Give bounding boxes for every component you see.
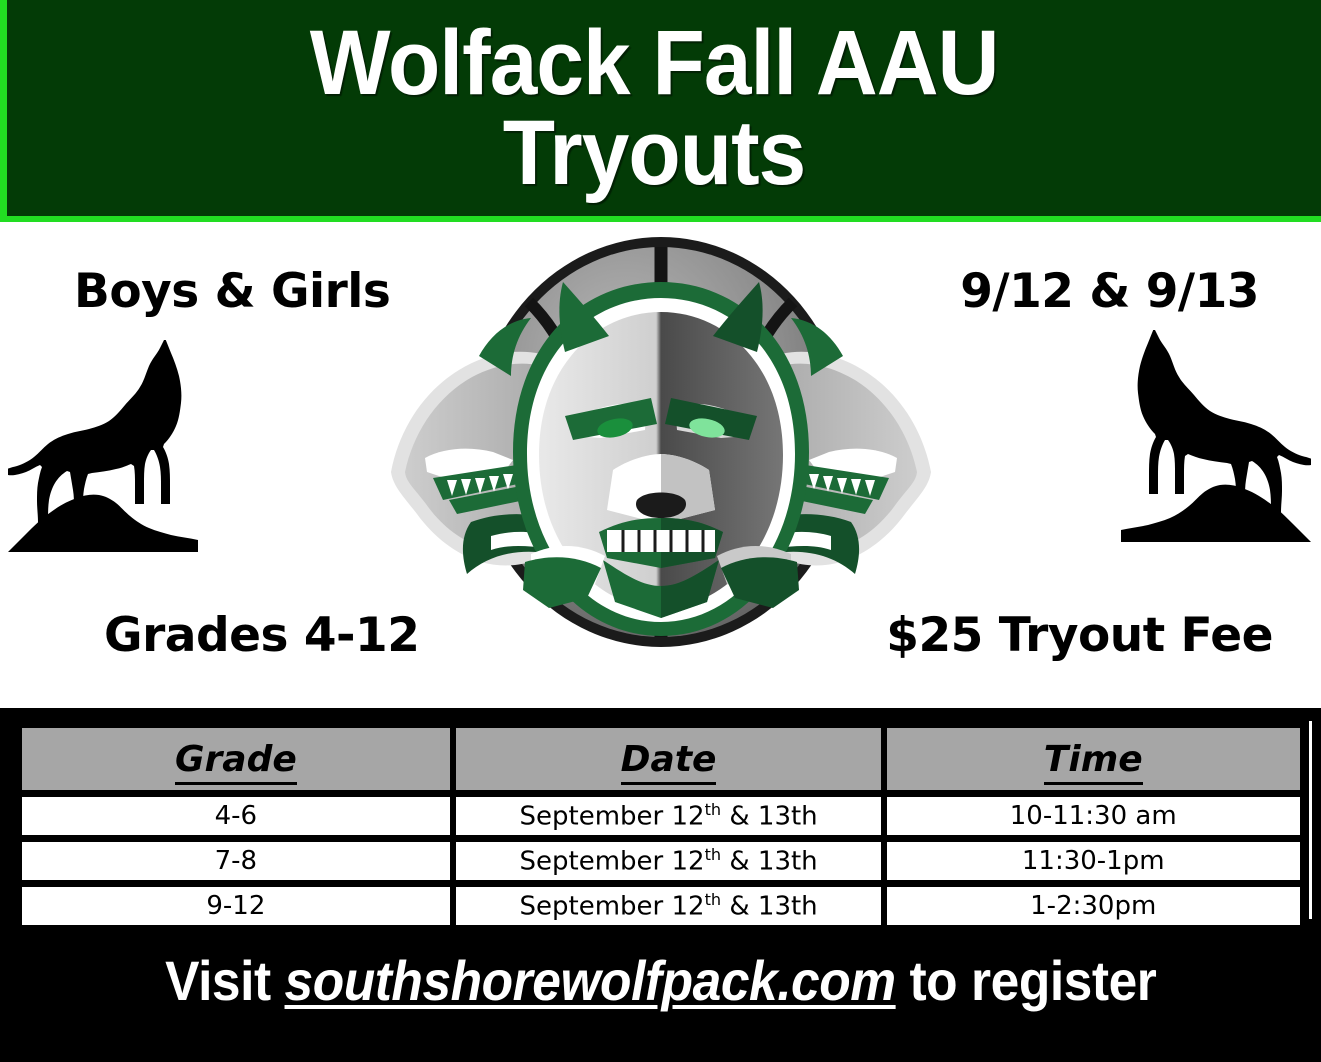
cell-date: September 12th & 13th [456,887,881,925]
register-instruction: Visit southshorewolfpack.com to register [165,948,1156,1013]
cell-date: September 12th & 13th [456,842,881,880]
column-header-time: Time [887,728,1300,790]
schedule-table-section: Grade Date Time 4-6 September 12th & 13t… [0,708,1321,930]
table-row: 4-6 September 12th & 13th 10-11:30 am [22,797,1300,835]
wolf-head-center [513,282,809,636]
table-row: 9-12 September 12th & 13th 1-2:30pm [22,887,1300,925]
column-header-date: Date [456,728,881,790]
cell-time: 1-2:30pm [887,887,1300,925]
howling-wolf-icon [1121,330,1311,550]
schedule-table: Grade Date Time 4-6 September 12th & 13t… [16,721,1306,932]
info-section: Boys & Girls 9/12 & 9/13 Grades 4-12 $25… [0,222,1321,708]
cell-grade: 9-12 [22,887,451,925]
table-header-row: Grade Date Time [22,728,1300,790]
table-right-rule [1309,721,1312,919]
footer-prefix: Visit [165,949,284,1012]
info-boys-girls: Boys & Girls [74,264,390,319]
cell-date: September 12th & 13th [456,797,881,835]
info-dates: 9/12 & 9/13 [960,264,1259,319]
column-header-grade: Grade [22,728,451,790]
cell-time: 10-11:30 am [887,797,1300,835]
howling-wolf-icon [8,340,198,560]
footer-suffix: to register [895,949,1156,1012]
wolfpack-basketball-logo [351,224,971,674]
footer-bar: Visit southshorewolfpack.com to register [0,930,1321,1062]
website-link[interactable]: southshorewolfpack.com [284,949,895,1012]
cell-grade: 4-6 [22,797,451,835]
cell-time: 11:30-1pm [887,842,1300,880]
cell-grade: 7-8 [22,842,451,880]
table-row: 7-8 September 12th & 13th 11:30-1pm [22,842,1300,880]
page-title: Wolfack Fall AAU Tryouts [309,18,1018,198]
header-banner: Wolfack Fall AAU Tryouts [0,0,1321,222]
